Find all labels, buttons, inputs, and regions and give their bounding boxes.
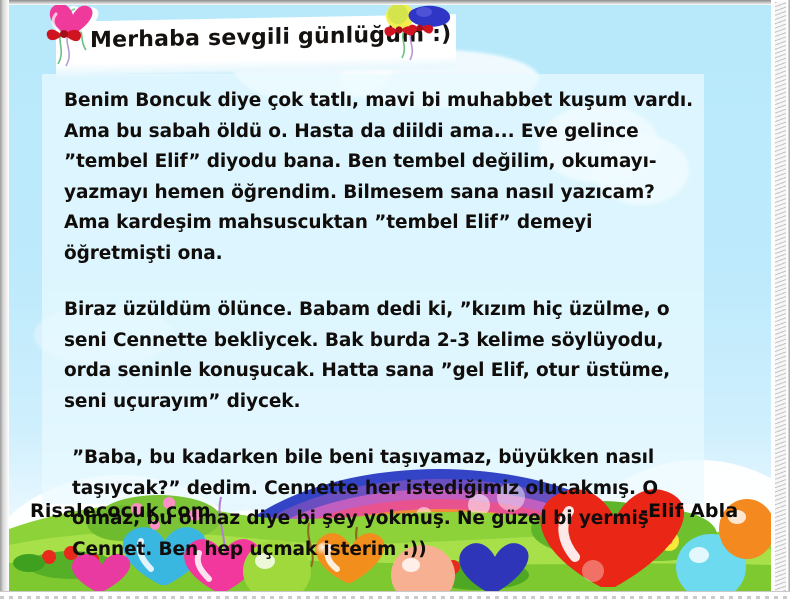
frame-bottom-edge	[0, 591, 790, 602]
frame-right-hatch	[775, 2, 786, 598]
frame-bottom-dash	[0, 596, 790, 599]
paragraph: Benim Boncuk diye çok tatlı, mavi bi muh…	[64, 86, 704, 269]
site-credit: Risalecocuk.com	[30, 500, 211, 522]
pink-heart-balloon-icon	[36, 2, 106, 72]
frame-left-edge	[0, 0, 9, 602]
paragraph: Biraz üzüldüm ölünce. Babam dedi ki, ”kı…	[64, 295, 704, 417]
author-credit: -Elif Abla	[640, 500, 738, 522]
diary-body: Benim Boncuk diye çok tatlı, mavi bi muh…	[64, 86, 704, 565]
frame-right-edge	[771, 0, 790, 602]
frame-top-edge	[0, 0, 790, 5]
diary-page: Merhaba sevgili günlüğüm :)	[0, 0, 790, 602]
balloon-cluster-icon	[378, 0, 458, 62]
